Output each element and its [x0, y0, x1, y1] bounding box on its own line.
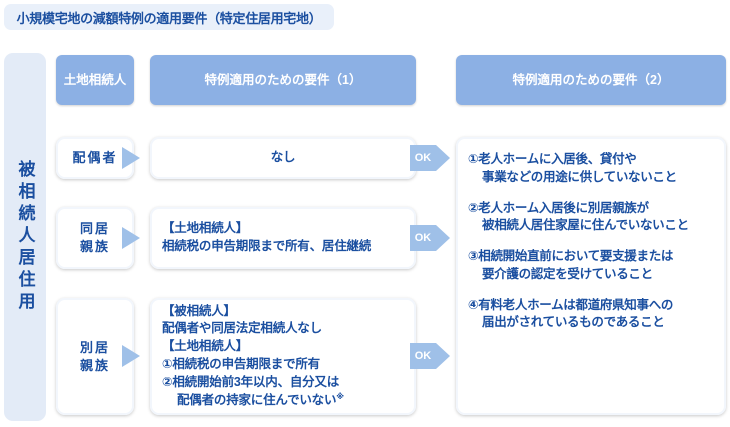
requirement1-separate-line-1: 【被相続人】 [162, 303, 404, 321]
requirement2-item-2: ②老人ホーム入居後に別居親族が 被相続人居住家屋に住んでいないこと [468, 200, 716, 236]
column-header-requirement-2: 特例適用のための要件（2） [456, 55, 726, 105]
requirement2-item-4-line2: 届出がされているものであること [468, 314, 716, 332]
column-header-requirement-1-label: 特例適用のための要件（1） [205, 72, 362, 88]
column-header-requirement-1: 特例適用のための要件（1） [150, 55, 416, 105]
requirement2-item-1: ①老人ホームに入居後、貸付や 事業などの用途に供していないこと [468, 151, 716, 187]
row-label-separate-line2: 親族 [80, 358, 110, 373]
requirement2-item-3-line1: ③相続開始直前において要支援または [468, 248, 716, 266]
requirement1-separate-line-4: ①相続税の申告期限まで所有 [162, 356, 404, 374]
diagram-title-bar: 小規模宅地の減額特例の適用要件（特定住居用宅地） [4, 4, 334, 30]
requirement2-item-3-line2: 要介護の認定を受けていること [468, 266, 716, 284]
ok-arrow-row3: OK [410, 343, 450, 369]
requirement2-item-1-line1: ①老人ホームに入居後、貸付や [468, 151, 716, 169]
row-label-separate-line1: 別居 [80, 340, 110, 355]
ok-arrow-row3-label: OK [412, 343, 434, 369]
requirement1-cell-spouse: なし [150, 137, 416, 179]
row-label-spouse-text: 配偶者 [72, 149, 117, 167]
requirement2-item-4: ④有料老人ホームは都道府県知事への 届出がされているものであること [468, 297, 716, 333]
diagram-canvas: 小規模宅地の減額特例の適用要件（特定住居用宅地） 被相続人居住用 土地 相続人 … [0, 0, 730, 427]
requirement1-cell-separate-body: 【被相続人】 配偶者や同居法定相続人なし 【土地相続人】 ①相続税の申告期限まで… [150, 298, 416, 415]
column-header-land-heir-line2: 相続人 [89, 72, 127, 88]
requirement1-separate-line-6: 配偶者の持家に住んでいない※ [162, 391, 404, 410]
arrow-right-icon-row1 [122, 147, 140, 169]
requirement1-separate-line-3: 【土地相続人】 [162, 338, 404, 356]
column-header-land-heir: 土地 相続人 [56, 55, 134, 105]
requirement2-item-2-line1: ②老人ホーム入居後に別居親族が [468, 200, 716, 218]
requirement2-item-3: ③相続開始直前において要支援または 要介護の認定を受けていること [468, 248, 716, 284]
requirement1-cell-cohabiting-relative: 【土地相続人】 相続税の申告期限まで所有、居住継続 [150, 207, 416, 269]
row-label-cohabiting-line2: 親族 [80, 239, 110, 254]
requirement1-separate-line-5: ②相続開始前3年以内、自分又は [162, 374, 404, 392]
side-band-barred-person-residence: 被相続人居住用 [4, 53, 46, 421]
requirement1-spouse-line-1: なし [271, 149, 296, 167]
requirement2-cell: ①老人ホームに入居後、貸付や 事業などの用途に供していないこと ②老人ホーム入居… [456, 137, 726, 415]
ok-arrow-row2-label: OK [412, 225, 434, 251]
requirement1-separate-line-6-text: 配偶者の持家に住んでいない [177, 394, 336, 408]
requirement1-separate-line-2: 配偶者や同居法定相続人なし [162, 320, 404, 338]
requirement2-cell-body: ①老人ホームに入居後、貸付や 事業などの用途に供していないこと ②老人ホーム入居… [456, 137, 726, 415]
requirement2-item-4-line1: ④有料老人ホームは都道府県知事への [468, 297, 716, 315]
requirement1-separate-note-mark: ※ [336, 392, 344, 401]
side-band-label: 被相続人居住用 [17, 160, 34, 314]
requirement1-cell-spouse-body: なし [150, 137, 416, 179]
arrow-right-icon-row3 [122, 345, 140, 367]
requirement2-item-2-line2: 被相続人居住家屋に住んでいないこと [468, 217, 716, 235]
row-label-cohabiting-line1: 同居 [80, 221, 110, 236]
diagram-title: 小規模宅地の減額特例の適用要件（特定住居用宅地） [17, 8, 322, 27]
column-header-land-heir-line1: 土地 [64, 72, 89, 88]
ok-arrow-row1: OK [410, 145, 450, 171]
requirement1-cell-separate-relative: 【被相続人】 配偶者や同居法定相続人なし 【土地相続人】 ①相続税の申告期限まで… [150, 298, 416, 415]
requirement2-item-1-line2: 事業などの用途に供していないこと [468, 169, 716, 187]
row-label-separate-relative-text: 別居 親族 [80, 339, 110, 374]
requirement1-cohabiting-line-1: 【土地相続人】 [162, 220, 404, 238]
arrow-right-icon-row2 [122, 227, 140, 249]
requirement1-cell-cohabiting-body: 【土地相続人】 相続税の申告期限まで所有、居住継続 [150, 207, 416, 269]
column-header-requirement-2-label: 特例適用のための要件（2） [513, 72, 670, 88]
ok-arrow-row2: OK [410, 225, 450, 251]
ok-arrow-row1-label: OK [412, 145, 434, 171]
row-label-cohabiting-relative-text: 同居 親族 [80, 220, 110, 255]
requirement1-cohabiting-line-2: 相続税の申告期限まで所有、居住継続 [162, 238, 404, 256]
